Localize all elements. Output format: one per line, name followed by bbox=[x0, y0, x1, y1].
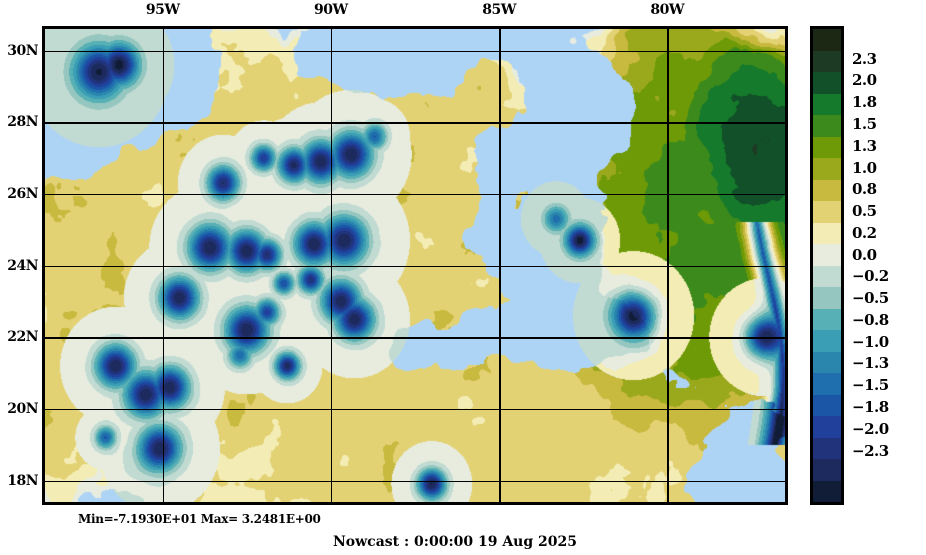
colorbar-tick-0: 2.3 bbox=[852, 50, 877, 68]
colorbar-tick-16: −1.8 bbox=[852, 398, 889, 416]
colorbar-tick-1: 2.0 bbox=[852, 71, 877, 89]
colorbar-tick-18: −2.3 bbox=[852, 442, 889, 460]
colorbar-tick-14: −1.3 bbox=[852, 354, 889, 372]
nowcast-chart: 95W90W85W80W 30N28N26N24N22N20N18N 2.32.… bbox=[0, 0, 926, 555]
lat-tick-26n: 26N bbox=[7, 186, 38, 202]
lat-tick-24n: 24N bbox=[7, 258, 38, 274]
timestamp-label: Nowcast : 0:00:00 19 Aug 2025 bbox=[333, 534, 577, 550]
gridline-parallel bbox=[45, 266, 785, 268]
minmax-readout: Min=-7.1930E+01 Max= 3.2481E+00 bbox=[78, 512, 321, 526]
colorbar-band-16 bbox=[813, 373, 841, 395]
lat-tick-18n: 18N bbox=[7, 473, 38, 489]
lat-tick-22n: 22N bbox=[7, 329, 38, 345]
colorbar-band-20 bbox=[813, 459, 841, 481]
colorbar-band-18 bbox=[813, 416, 841, 438]
lat-tick-30n: 30N bbox=[7, 43, 38, 59]
colorbar-tick-9: 0.0 bbox=[852, 246, 877, 264]
graticule bbox=[45, 29, 785, 502]
colorbar-tick-8: 0.2 bbox=[852, 224, 877, 242]
colorbar-tick-11: −0.5 bbox=[852, 289, 889, 307]
gridline-parallel bbox=[45, 194, 785, 196]
colorbar-band-12 bbox=[813, 287, 841, 309]
colorbar-tick-12: −0.8 bbox=[852, 311, 889, 329]
colorbar-band-0 bbox=[813, 29, 841, 51]
gridline-parallel bbox=[45, 51, 785, 53]
colorbar bbox=[810, 26, 844, 505]
colorbar-band-2 bbox=[813, 72, 841, 94]
gridline-parallel bbox=[45, 337, 785, 339]
colorbar-tick-4: 1.3 bbox=[852, 137, 877, 155]
colorbar-band-8 bbox=[813, 201, 841, 223]
colorbar-band-13 bbox=[813, 309, 841, 331]
gridline-parallel bbox=[45, 122, 785, 124]
colorbar-band-15 bbox=[813, 352, 841, 374]
colorbar-tick-labels: 2.32.01.81.51.31.00.80.50.20.0−0.2−0.5−0… bbox=[852, 26, 922, 505]
gridline-parallel bbox=[45, 481, 785, 483]
colorbar-band-1 bbox=[813, 51, 841, 73]
colorbar-tick-2: 1.8 bbox=[852, 93, 877, 111]
colorbar-band-5 bbox=[813, 137, 841, 159]
colorbar-band-9 bbox=[813, 223, 841, 245]
lon-tick-85w: 85W bbox=[482, 2, 516, 18]
colorbar-tick-17: −2.0 bbox=[852, 420, 889, 438]
lon-tick-95w: 95W bbox=[146, 2, 180, 18]
colorbar-band-7 bbox=[813, 180, 841, 202]
colorbar-tick-15: −1.5 bbox=[852, 376, 889, 394]
colorbar-tick-3: 1.5 bbox=[852, 115, 877, 133]
colorbar-tick-13: −1.0 bbox=[852, 333, 889, 351]
map-plot-area bbox=[42, 26, 788, 505]
colorbar-tick-6: 0.8 bbox=[852, 180, 877, 198]
colorbar-band-21 bbox=[813, 481, 841, 503]
colorbar-band-4 bbox=[813, 115, 841, 137]
lat-tick-28n: 28N bbox=[7, 114, 38, 130]
colorbar-band-11 bbox=[813, 266, 841, 288]
colorbar-tick-10: −0.2 bbox=[852, 267, 889, 285]
lat-tick-20n: 20N bbox=[7, 401, 38, 417]
colorbar-band-17 bbox=[813, 395, 841, 417]
colorbar-band-10 bbox=[813, 244, 841, 266]
lon-tick-90w: 90W bbox=[314, 2, 348, 18]
gridline-parallel bbox=[45, 409, 785, 411]
lon-tick-80w: 80W bbox=[650, 2, 684, 18]
colorbar-band-14 bbox=[813, 330, 841, 352]
colorbar-tick-7: 0.5 bbox=[852, 202, 877, 220]
colorbar-band-6 bbox=[813, 158, 841, 180]
colorbar-tick-5: 1.0 bbox=[852, 159, 877, 177]
colorbar-band-3 bbox=[813, 94, 841, 116]
colorbar-band-19 bbox=[813, 438, 841, 460]
